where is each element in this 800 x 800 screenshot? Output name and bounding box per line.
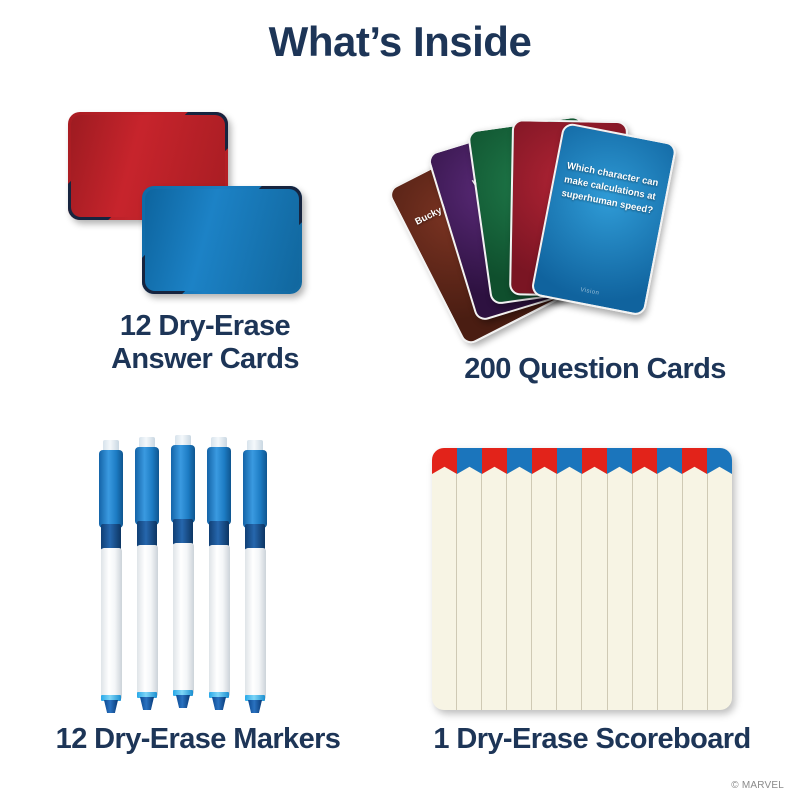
scoreboard-tab <box>632 448 657 474</box>
marker-collar <box>245 524 265 550</box>
question-cards-illustration: Bucky Captain since W Who is Kr W r Su w… <box>430 108 760 358</box>
marker-cap <box>171 445 195 523</box>
scoreboard-tabs <box>432 448 732 474</box>
blue-answer-card <box>142 186 302 294</box>
scoreboard-tab <box>507 448 532 474</box>
scoreboard-column <box>683 474 708 710</box>
scoreboard-column <box>658 474 683 710</box>
marker-cap <box>243 450 267 528</box>
scoreboard-column <box>432 474 457 710</box>
scoreboard-caption: 1 Dry-Erase Scoreboard <box>392 723 792 756</box>
marker-end-cap <box>173 690 193 708</box>
marker-2 <box>134 437 160 713</box>
marker-cap <box>207 447 231 525</box>
markers-caption: 12 Dry-Erase Markers <box>8 723 388 756</box>
marker-end-cap <box>245 695 265 713</box>
marker-end-cap <box>137 692 157 710</box>
scoreboard-tab <box>432 448 457 474</box>
scoreboard-tab <box>707 448 732 474</box>
answer-cards-caption-line2: Answer Cards <box>20 343 390 376</box>
scoreboard-column <box>708 474 732 710</box>
marker-1 <box>98 440 124 716</box>
scoreboard-columns <box>432 474 732 710</box>
scoreboard-tab <box>532 448 557 474</box>
scoreboard-tab <box>582 448 607 474</box>
scoreboard-tab <box>607 448 632 474</box>
marker-barrel <box>101 548 122 700</box>
scoreboard-column <box>457 474 482 710</box>
marker-cap <box>99 450 123 528</box>
marker-5 <box>242 440 268 716</box>
page-title: What’s Inside <box>0 18 800 66</box>
marker-cap <box>135 447 159 525</box>
scoreboard-column <box>507 474 532 710</box>
marker-barrel <box>173 543 194 695</box>
marker-collar <box>101 524 121 550</box>
scoreboard-column <box>532 474 557 710</box>
marker-4 <box>206 437 232 713</box>
scoreboard-tab <box>557 448 582 474</box>
scoreboard-column <box>633 474 658 710</box>
blue-question-card-text: Which character can make calculations at… <box>558 159 662 218</box>
answer-cards-caption-line1: 12 Dry-Erase <box>20 310 390 343</box>
scoreboard-tab <box>457 448 482 474</box>
marker-barrel <box>245 548 266 700</box>
scoreboard-tab <box>682 448 707 474</box>
marker-3 <box>170 435 196 711</box>
marker-end-cap <box>209 692 229 710</box>
copyright-notice: © MARVEL <box>731 780 784 791</box>
scoreboard-illustration <box>432 448 732 710</box>
marker-collar <box>209 521 229 547</box>
marker-barrel <box>209 545 230 697</box>
scoreboard-tab <box>657 448 682 474</box>
marker-barrel <box>137 545 158 697</box>
question-cards-caption: 200 Question Cards <box>405 353 785 386</box>
scoreboard-column <box>582 474 607 710</box>
marker-collar <box>137 521 157 547</box>
scoreboard-column <box>608 474 633 710</box>
blue-answer-card-face <box>145 189 299 291</box>
scoreboard-column <box>557 474 582 710</box>
answer-cards-caption: 12 Dry-Erase Answer Cards <box>20 310 390 376</box>
marker-collar <box>173 519 193 545</box>
scoreboard-tab <box>482 448 507 474</box>
scoreboard-column <box>482 474 507 710</box>
answer-cards-illustration <box>60 100 360 310</box>
markers-illustration <box>98 434 298 716</box>
marker-end-cap <box>101 695 121 713</box>
